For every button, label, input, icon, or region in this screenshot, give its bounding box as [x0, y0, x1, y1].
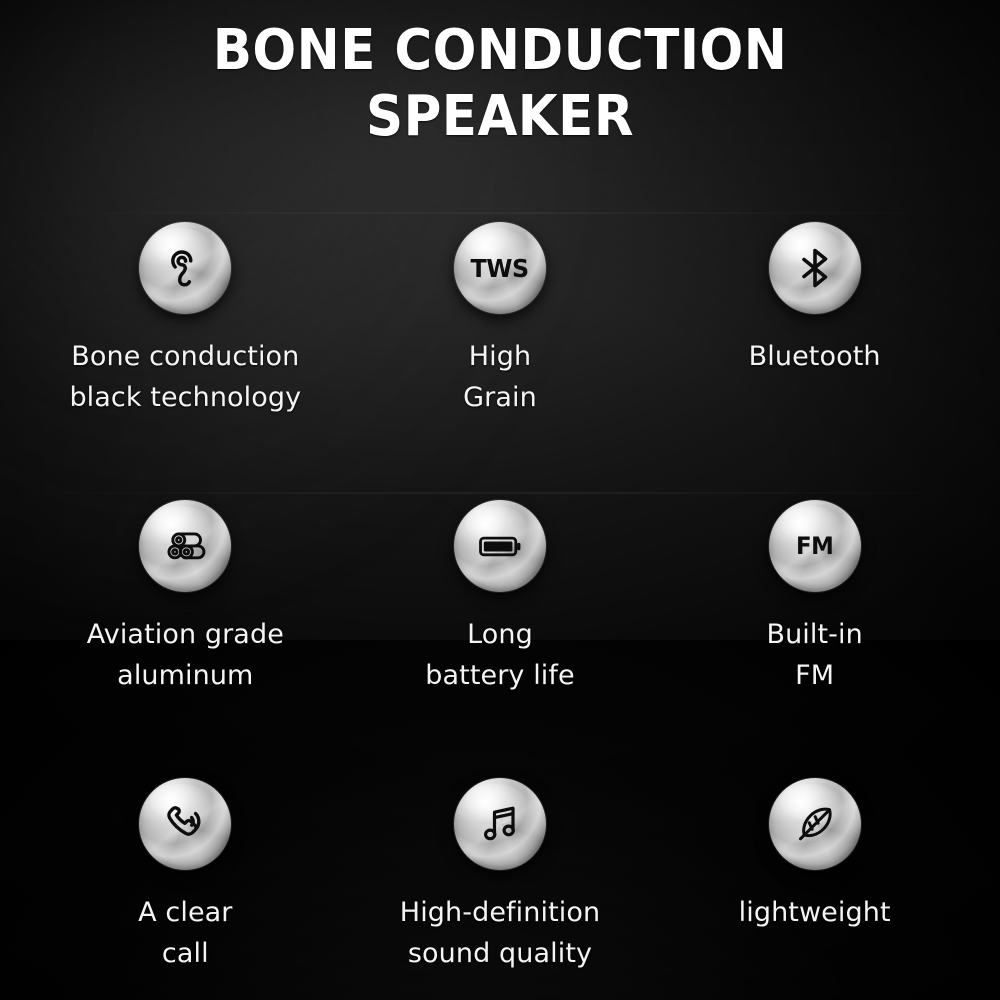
- ear-icon: [139, 222, 231, 314]
- feature-badge: [769, 778, 861, 870]
- feature-label: High-definition sound quality: [400, 892, 600, 974]
- feature-item-bluetooth: Bluetooth: [657, 222, 972, 500]
- bluetooth-icon: [769, 222, 861, 314]
- feature-badge: [454, 778, 546, 870]
- feature-badge: [139, 500, 231, 592]
- feature-item-battery: Long battery life: [343, 500, 658, 778]
- feature-item-bone-conduction: Bone conduction black technology: [28, 222, 343, 500]
- feature-item-clear-call: A clear call: [28, 778, 343, 1000]
- feature-label: Built-in FM: [766, 614, 862, 696]
- feature-label: Long battery life: [425, 614, 574, 696]
- feature-badge: TWS: [454, 222, 546, 314]
- feature-item-lightweight: lightweight: [657, 778, 972, 1000]
- battery-icon: [454, 500, 546, 592]
- feature-label: A clear call: [138, 892, 232, 974]
- feature-label: High Grain: [463, 336, 537, 418]
- feature-grid: Bone conduction black technology TWS Hig…: [28, 222, 972, 1000]
- phone-call-icon: [139, 778, 231, 870]
- page-title-line-2: SPEAKER: [40, 84, 960, 150]
- feature-badge: [769, 222, 861, 314]
- feature-badge: [139, 222, 231, 314]
- tws-icon: TWS: [471, 254, 529, 283]
- page-title: BONE CONDUCTION SPEAKER: [0, 18, 1000, 150]
- feature-badge: FM: [769, 500, 861, 592]
- feature-item-aluminum: Aviation grade aluminum: [28, 500, 343, 778]
- feature-label: Bone conduction black technology: [69, 336, 301, 418]
- aluminum-tubes-icon: [139, 500, 231, 592]
- music-note-icon: [454, 778, 546, 870]
- feature-label: Aviation grade aluminum: [87, 614, 284, 696]
- feature-label: Bluetooth: [749, 336, 881, 377]
- feature-badge: [139, 778, 231, 870]
- fm-icon: FM: [796, 532, 833, 560]
- feature-item-tws: TWS High Grain: [343, 222, 658, 500]
- feature-item-fm: FM Built-in FM: [657, 500, 972, 778]
- feature-label: lightweight: [739, 892, 891, 933]
- product-feature-poster: BONE CONDUCTION SPEAKER Bone conduction …: [0, 0, 1000, 1000]
- feather-icon: [769, 778, 861, 870]
- page-title-line-1: BONE CONDUCTION: [40, 18, 960, 84]
- feature-item-sound-quality: High-definition sound quality: [343, 778, 658, 1000]
- feature-badge: [454, 500, 546, 592]
